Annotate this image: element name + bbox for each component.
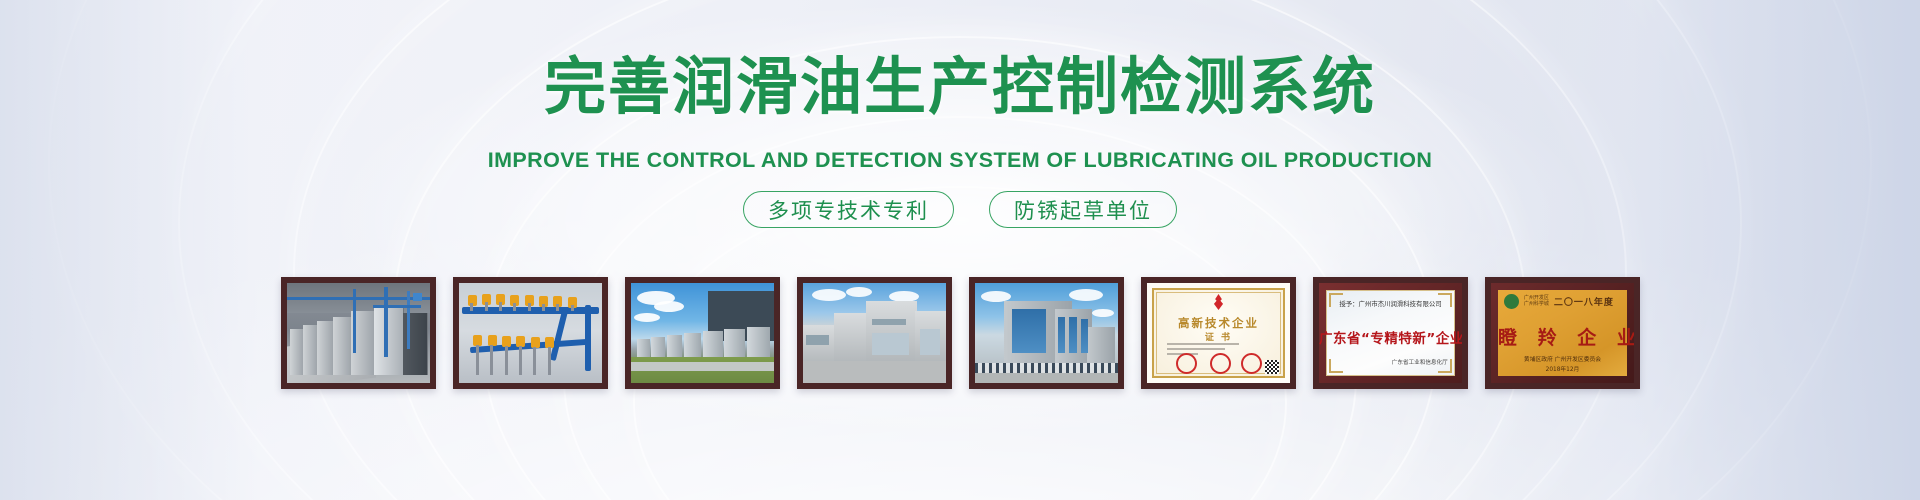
gallery-strip: 高新技术企业 证 书 [281, 277, 1640, 389]
page-subtitle: IMPROVE THE CONTROL AND DETECTION SYSTEM… [0, 147, 1920, 173]
plaque-year: 二〇一八年度 [1554, 295, 1614, 308]
gallery-item-factory-control-cabinets[interactable] [281, 277, 436, 389]
plaque-issuer: 黄埔区政府 广州开发区委员会 [1491, 354, 1634, 363]
gallery-item-company-office-tower[interactable] [969, 277, 1124, 389]
plaque-awardee: 授予：广州市杰川润滑科技有限公司 [1339, 299, 1442, 308]
gallery-item-factory-storage-tanks[interactable] [625, 277, 780, 389]
gallery-item-gazelle-enterprise-plaque[interactable]: 广州开发区广州科学城 二〇一八年度 瞪 羚 企 业 黄埔区政府 广州开发区委员会… [1485, 277, 1640, 389]
page-title: 完善润滑油生产控制检测系统 [0, 50, 1920, 124]
photo-control-cabinets [287, 283, 430, 383]
plaque-logo-text: 广州开发区广州科学城 [1524, 295, 1549, 307]
photo-storage-tanks [631, 283, 774, 383]
gallery-item-factory-blue-pipe-manifold[interactable] [453, 277, 608, 389]
gallery-item-high-tech-enterprise-certificate[interactable]: 高新技术企业 证 书 [1141, 277, 1296, 389]
plaque-date: 2018年12月 [1491, 364, 1634, 373]
plaque-title: 瞪 羚 企 业 [1491, 323, 1634, 350]
gallery-item-specialized-new-enterprise-plaque[interactable]: 授予：广州市杰川润滑科技有限公司 广东省“专精特新”企业 广东省工业和信息化厅 [1313, 277, 1468, 389]
certificate-subtitle: 证 书 [1147, 330, 1290, 343]
plaque-gazelle-enterprise: 广州开发区广州科学城 二〇一八年度 瞪 羚 企 业 黄埔区政府 广州开发区委员会… [1491, 283, 1634, 383]
photo-office-tower [975, 283, 1118, 383]
gallery-item-factory-production-building[interactable] [797, 277, 952, 389]
qr-code-icon [1265, 360, 1279, 374]
photo-blue-pipe-manifold [459, 283, 602, 383]
certificate-high-tech-enterprise: 高新技术企业 证 书 [1147, 283, 1290, 383]
development-zone-logo-icon [1504, 294, 1519, 309]
plaque-title: 广东省“专精特新”企业 [1319, 327, 1462, 347]
tag-patents[interactable]: 多项专技术专利 [743, 191, 954, 228]
tag-list: 多项专技术专利 防锈起草单位 [0, 191, 1920, 228]
tag-antirust-standard[interactable]: 防锈起草单位 [989, 191, 1177, 228]
plaque-issuer: 广东省工业和信息化厅 [1392, 359, 1448, 367]
certificate-title: 高新技术企业 [1147, 315, 1290, 331]
photo-production-building [803, 283, 946, 383]
hero-banner: 完善润滑油生产控制检测系统 IMPROVE THE CONTROL AND DE… [0, 0, 1920, 500]
plaque-specialized-new-enterprise: 授予：广州市杰川润滑科技有限公司 广东省“专精特新”企业 广东省工业和信息化厅 [1319, 283, 1462, 383]
